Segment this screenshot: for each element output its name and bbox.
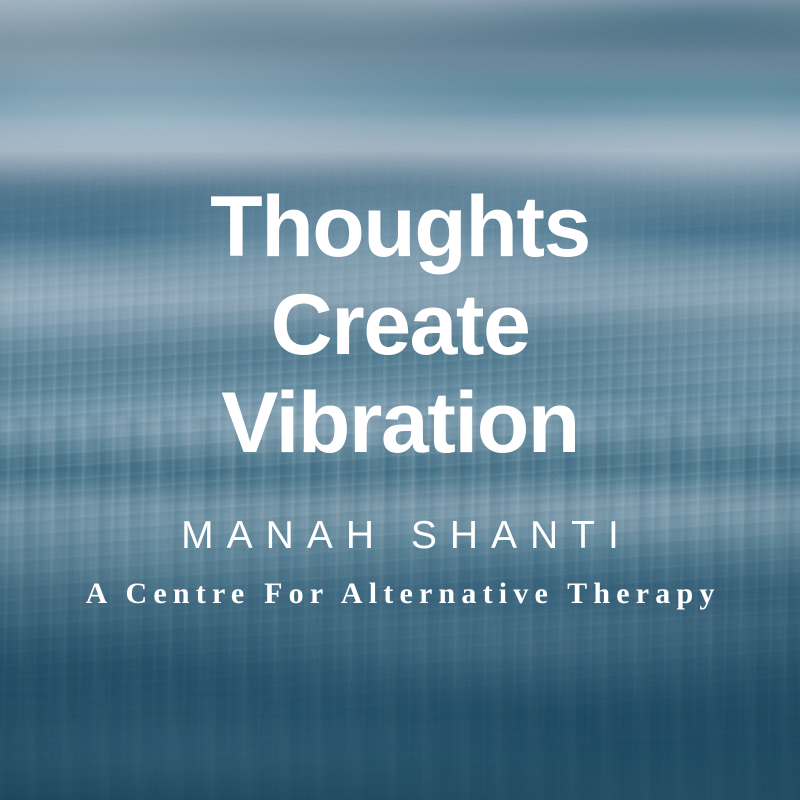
- headline-line-2: Create: [210, 276, 590, 374]
- headline: Thoughts Create Vibration: [210, 178, 590, 472]
- poster-content: Thoughts Create Vibration MANAH SHANTI A…: [0, 0, 800, 800]
- tagline: A Centre For Alternative Therapy: [79, 578, 720, 610]
- brand-name: MANAH SHANTI: [168, 516, 632, 556]
- poster-canvas: Thoughts Create Vibration MANAH SHANTI A…: [0, 0, 800, 800]
- headline-line-3: Vibration: [210, 374, 590, 472]
- headline-line-1: Thoughts: [210, 178, 590, 276]
